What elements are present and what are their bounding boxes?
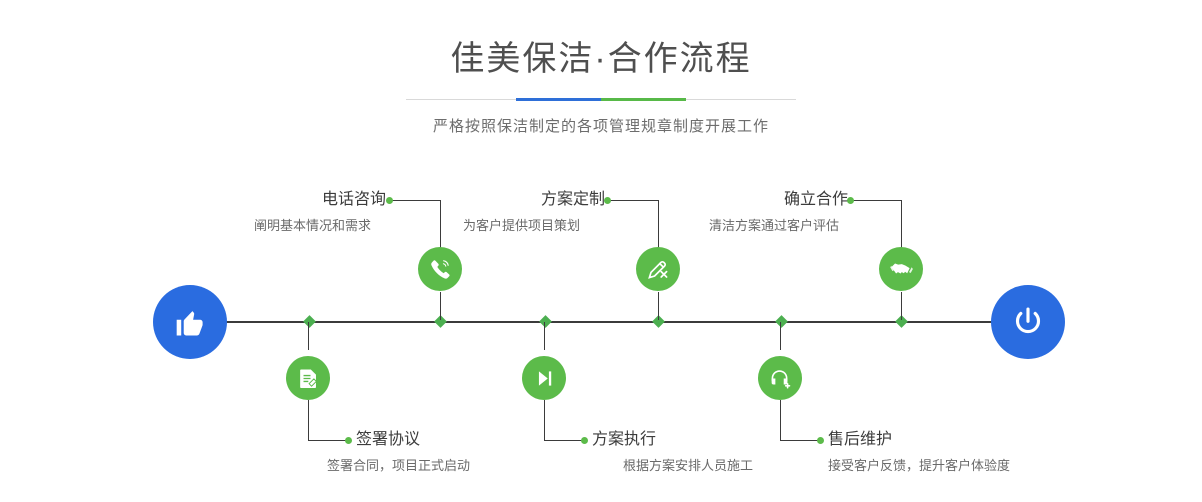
step-label: 确立合作 <box>784 192 848 208</box>
step-desc: 签署合同，项目正式启动 <box>327 459 470 472</box>
connector-line <box>440 292 441 320</box>
connector-line <box>544 440 586 441</box>
handshake-icon <box>889 257 914 282</box>
phone-icon <box>428 257 452 281</box>
connector-dot <box>604 197 611 204</box>
step-desc: 清洁方案通过客户评估 <box>709 219 839 232</box>
axis-marker <box>303 315 316 328</box>
step-icon-design[interactable] <box>636 247 680 291</box>
step-icon-execute[interactable] <box>522 356 566 400</box>
step-desc: 阐明基本情况和需求 <box>254 219 371 232</box>
connector-line <box>544 322 545 350</box>
step-label: 签署协议 <box>356 432 420 448</box>
connector-line <box>308 322 309 350</box>
thumbs-up-icon <box>173 305 207 339</box>
start-node[interactable] <box>153 285 227 359</box>
connector-line <box>901 292 902 320</box>
connector-line <box>658 200 659 248</box>
step-desc: 接受客户反馈，提升客户体验度 <box>828 459 1010 472</box>
document-edit-icon <box>297 367 320 390</box>
end-node[interactable] <box>991 285 1065 359</box>
connector-line <box>658 292 659 320</box>
step-icon-document[interactable] <box>286 356 330 400</box>
axis-marker <box>775 315 788 328</box>
connector-line <box>544 400 545 440</box>
connector-dot <box>386 197 393 204</box>
connector-line <box>308 400 309 440</box>
connector-dot <box>817 437 824 444</box>
step-icon-handshake[interactable] <box>879 247 923 291</box>
step-label: 方案执行 <box>592 432 656 448</box>
step-label: 方案定制 <box>541 192 605 208</box>
step-icon-support[interactable] <box>758 356 802 400</box>
connector-line <box>780 400 781 440</box>
connector-line <box>308 440 350 441</box>
process-flow-diagram: 电话咨询 阐明基本情况和需求 签署协议 签署合同，项目正式启动 方案定制 <box>0 0 1202 502</box>
connector-dot <box>345 437 352 444</box>
connector-dot <box>847 197 854 204</box>
step-icon-phone[interactable] <box>418 247 462 291</box>
connector-line <box>440 200 441 248</box>
axis-marker <box>539 315 552 328</box>
step-desc: 为客户提供项目策划 <box>463 219 580 232</box>
connector-line <box>780 322 781 350</box>
pen-ruler-icon <box>646 257 670 281</box>
connector-line <box>851 200 901 201</box>
power-icon <box>1010 304 1046 340</box>
connector-line <box>390 200 440 201</box>
step-label: 售后维护 <box>828 432 892 448</box>
headset-add-icon <box>769 367 792 390</box>
connector-line <box>608 200 658 201</box>
step-desc: 根据方案安排人员施工 <box>623 459 753 472</box>
step-label: 电话咨询 <box>322 192 386 208</box>
connector-dot <box>581 437 588 444</box>
play-step-icon <box>533 367 556 390</box>
connector-line <box>780 440 822 441</box>
connector-line <box>901 200 902 248</box>
